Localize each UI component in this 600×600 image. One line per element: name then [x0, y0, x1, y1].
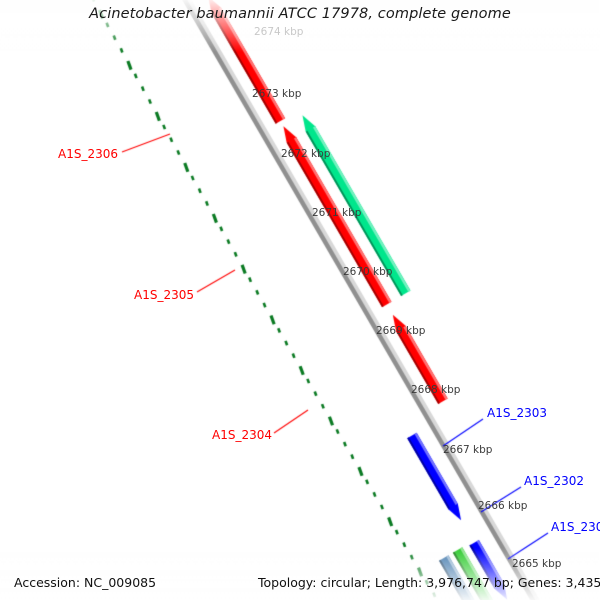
gene-label-a1s_2304[interactable]: A1S_2304: [212, 428, 272, 442]
gene-label-a1s_2305[interactable]: A1S_2305: [134, 288, 194, 302]
axis-tick-label: 2672 kbp: [281, 148, 330, 160]
axis-tick-label: 2674 kbp: [254, 26, 303, 38]
axis-tick-label: 2673 kbp: [252, 88, 301, 100]
topology-text: Topology: circular; Length: 3,976,747 bp…: [258, 575, 600, 590]
accession-text: Accession: NC_009085: [14, 575, 156, 590]
axis-tick-label: 2671 kbp: [312, 207, 361, 219]
gene-label-a1s_2303[interactable]: A1S_2303: [487, 406, 547, 420]
gene-label-a1s_2301[interactable]: A1S_2301: [551, 520, 600, 534]
axis-tick-label: 2670 kbp: [343, 266, 392, 278]
axis-tick-label: 2668 kbp: [411, 384, 460, 396]
gene-label-a1s_2302[interactable]: A1S_2302: [524, 474, 584, 488]
axis-tick-label: 2669 kbp: [376, 325, 425, 337]
status-bar: Accession: NC_009085 Topology: circular;…: [0, 568, 600, 600]
axis-tick-label: 2666 kbp: [478, 500, 527, 512]
gene-label-a1s_2306[interactable]: A1S_2306: [58, 147, 118, 161]
axis-tick-label: 2667 kbp: [443, 444, 492, 456]
genome-map-viewer[interactable]: Acinetobacter baumannii ATCC 17978, comp…: [0, 0, 600, 600]
